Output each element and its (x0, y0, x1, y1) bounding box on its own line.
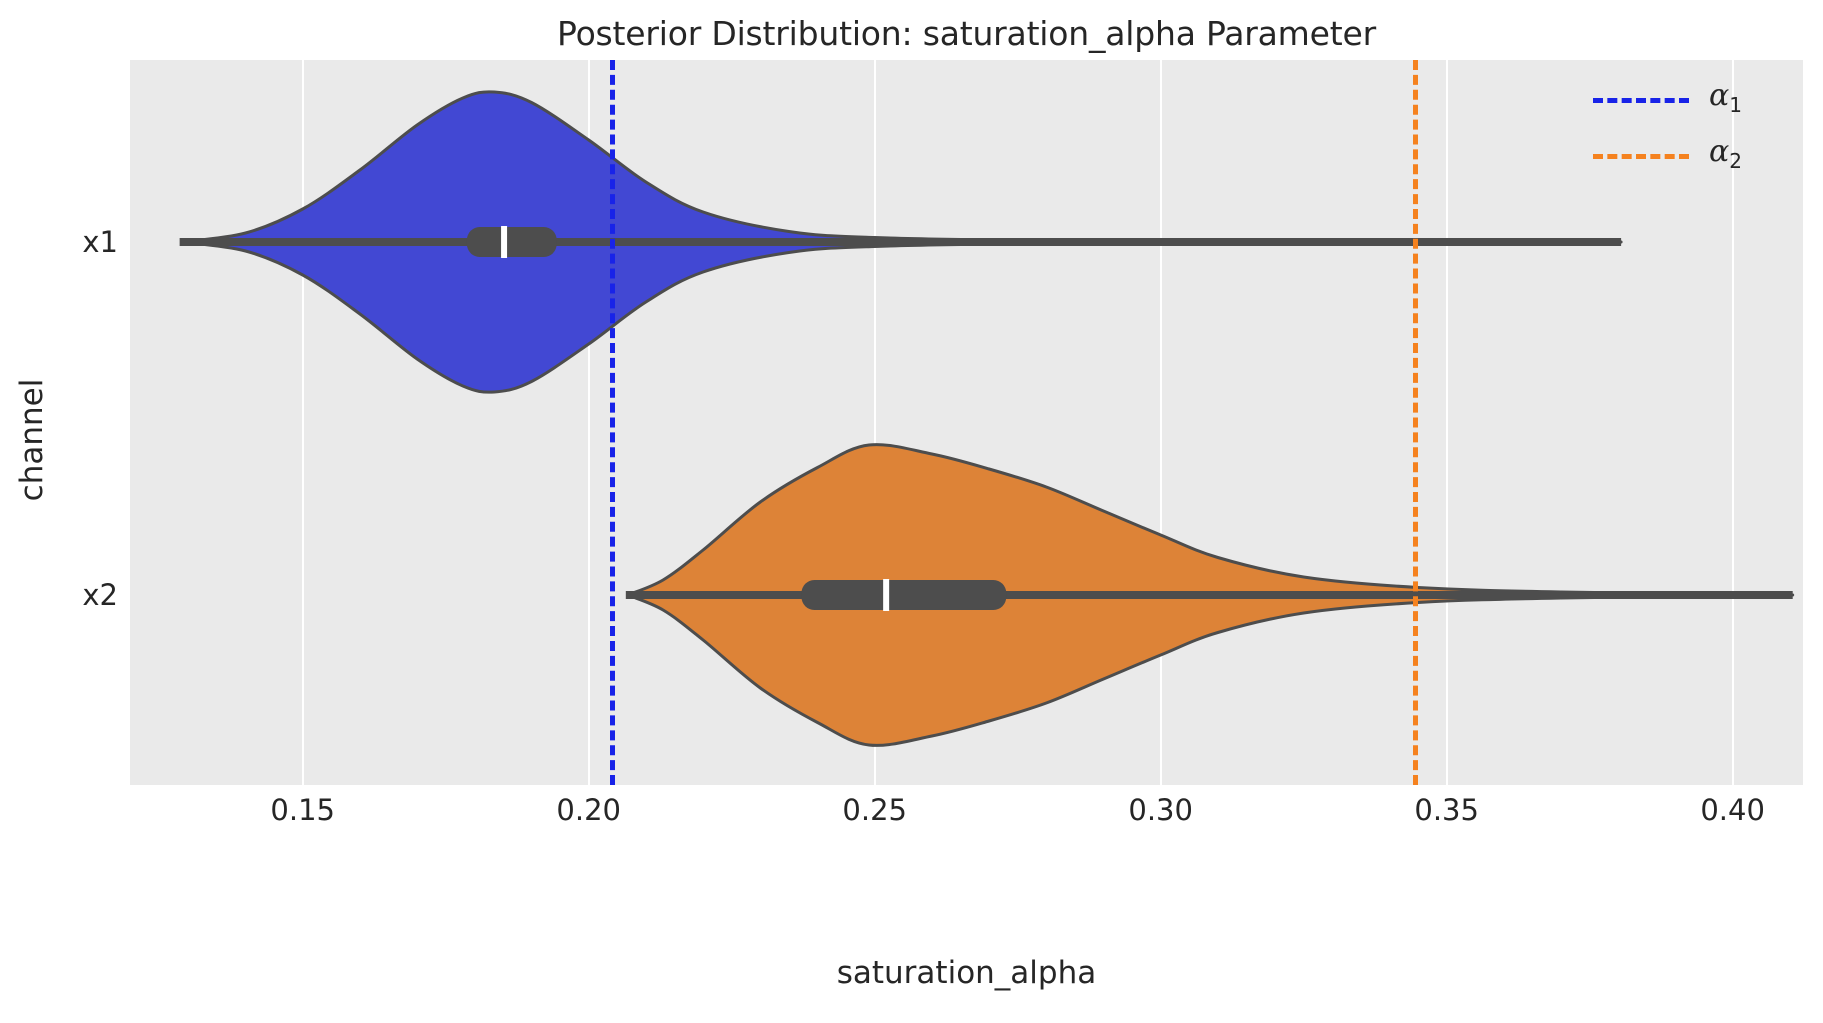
violin-x2 (626, 445, 1793, 746)
legend-item-alpha2[interactable]: α2 (1585, 134, 1795, 178)
reference-line-alpha2 (1413, 60, 1418, 785)
legend-label-alpha2: α2 (1709, 134, 1742, 173)
x-axis-label: saturation_alpha (130, 955, 1803, 991)
y-tick-label-x1: x1 (82, 225, 118, 259)
violin-plots (130, 60, 1803, 785)
x-tick-label-1: 0.20 (556, 793, 621, 827)
x-tick-label-2: 0.25 (842, 793, 907, 827)
plot-area (130, 60, 1803, 785)
iqr-box-x1 (467, 227, 557, 257)
legend-dash-swatch-alpha2 (1593, 154, 1689, 159)
chart-title: Posterior Distribution: saturation_alpha… (130, 14, 1803, 53)
chart-figure: Posterior Distribution: saturation_alpha… (0, 0, 1823, 1023)
legend-item-alpha1[interactable]: α1 (1585, 78, 1795, 122)
iqr-box-x2 (801, 580, 1006, 610)
legend-dash-swatch-alpha1 (1593, 98, 1689, 103)
legend-label-alpha1: α1 (1709, 78, 1742, 117)
median-marker-x1 (501, 226, 507, 258)
x-tick-label-4: 0.35 (1414, 793, 1479, 827)
x-tick-label-0: 0.15 (270, 793, 335, 827)
median-marker-x2 (883, 579, 889, 611)
y-tick-label-x2: x2 (82, 578, 118, 612)
x-tick-label-3: 0.30 (1128, 793, 1193, 827)
x-tick-label-5: 0.40 (1700, 793, 1765, 827)
chart-legend: α1α2 (1585, 78, 1795, 186)
y-axis-label: channel (14, 300, 50, 580)
reference-line-alpha1 (610, 60, 615, 785)
violin-x1 (180, 92, 1621, 392)
